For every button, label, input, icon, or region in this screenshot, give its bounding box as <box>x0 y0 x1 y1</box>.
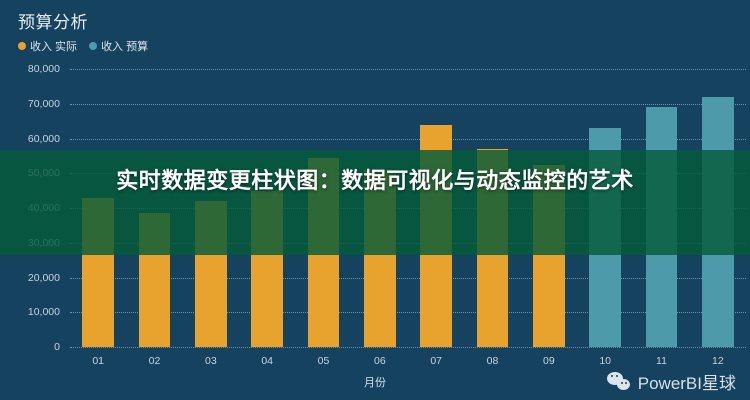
bar-06[interactable] <box>364 170 396 347</box>
watermark-text: PowerBI星球 <box>638 369 736 394</box>
x-tick-label: 10 <box>599 355 611 367</box>
wechat-icon <box>607 372 631 392</box>
bar-11[interactable] <box>646 107 678 347</box>
y-tick-label: 30,000 <box>28 237 60 249</box>
y-tick-label: 50,000 <box>28 167 60 179</box>
bar-01[interactable] <box>82 198 114 347</box>
bar-12[interactable] <box>702 97 734 347</box>
bar-08[interactable] <box>477 149 509 347</box>
bar-series: 010203040506070809101112 <box>70 0 746 400</box>
x-tick-label: 02 <box>149 355 161 367</box>
x-tick-label: 04 <box>261 355 273 367</box>
y-tick-label: 60,000 <box>28 133 60 145</box>
x-tick-label: 05 <box>318 355 330 367</box>
bar-03[interactable] <box>195 201 227 347</box>
bar-07[interactable] <box>420 125 452 347</box>
y-tick-label: 70,000 <box>28 98 60 110</box>
chart-screenshot: 预算分析 收入 实际 收入 预算 80,00070,00060,00050,00… <box>0 0 750 400</box>
y-tick-label: 20,000 <box>28 272 60 284</box>
y-axis: 80,00070,00060,00050,00040,00030,00020,0… <box>0 0 68 400</box>
x-tick-label: 06 <box>374 355 386 367</box>
bar-05[interactable] <box>308 158 340 347</box>
y-tick-label: 0 <box>54 341 60 353</box>
y-tick-label: 10,000 <box>28 306 60 318</box>
bar-09[interactable] <box>533 165 565 347</box>
plot-area: 80,00070,00060,00050,00040,00030,00020,0… <box>0 0 750 400</box>
x-tick-label: 03 <box>205 355 217 367</box>
y-tick-label: 40,000 <box>28 202 60 214</box>
bar-10[interactable] <box>589 128 621 347</box>
x-tick-label: 08 <box>487 355 499 367</box>
watermark: PowerBI星球 <box>607 369 736 394</box>
y-tick-label: 80,000 <box>28 63 60 75</box>
x-tick-label: 09 <box>543 355 555 367</box>
x-tick-label: 12 <box>712 355 724 367</box>
bar-02[interactable] <box>139 213 171 347</box>
x-tick-label: 07 <box>430 355 442 367</box>
x-tick-label: 11 <box>656 355 667 367</box>
x-tick-label: 01 <box>92 355 104 367</box>
bar-04[interactable] <box>251 191 283 347</box>
